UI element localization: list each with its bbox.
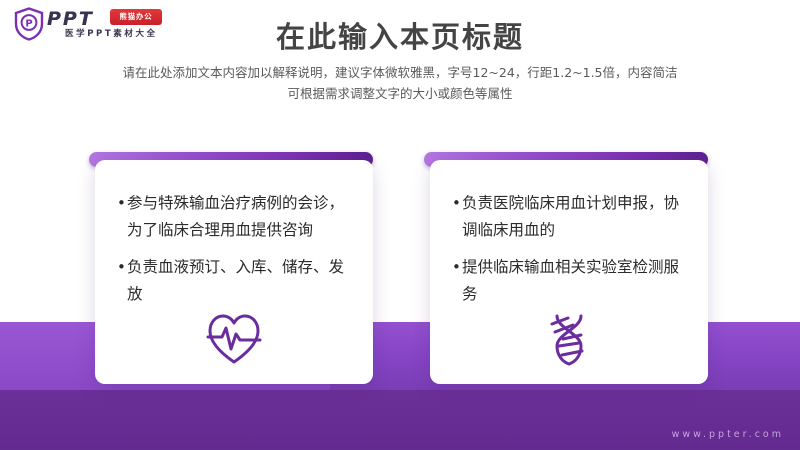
bullet-marker: • [452,254,462,308]
bullet-marker: • [452,190,462,244]
bullet-list-right: • 负责医院临床用血计划申报，协调临床用血的 • 提供临床输血相关实验室检测服务 [452,190,692,318]
bullet-text: 提供临床输血相关实验室检测服务 [462,254,692,308]
background-band-dark [0,390,800,450]
bullet-text: 参与特殊输血治疗病例的会诊，为了临床合理用血提供咨询 [127,190,357,244]
list-item: • 负责医院临床用血计划申报，协调临床用血的 [452,190,692,244]
content-card-right[interactable]: • 负责医院临床用血计划申报，协调临床用血的 • 提供临床输血相关实验室检测服务 [424,152,708,384]
page-title: 在此输入本页标题 [0,14,800,56]
card-body-right: • 负责医院临床用血计划申报，协调临床用血的 • 提供临床输血相关实验室检测服务 [430,160,708,384]
subtitle-line-2: 可根据需求调整文字的大小或颜色等属性 [0,83,800,104]
page-subtitle: 请在此处添加文本内容加以解释说明，建议字体微软雅黑，字号12~24，行距1.2~… [0,62,800,104]
heart-pulse-icon [204,310,264,368]
dna-helix-icon [539,310,599,368]
slide-canvas: P PPT 熊猫办公 医学PPT素材大全 在此输入本页标题 请在此处添加文本内容… [0,0,800,450]
bullet-marker: • [117,254,127,308]
card-body-left: • 参与特殊输血治疗病例的会诊，为了临床合理用血提供咨询 • 负责血液预订、入库… [95,160,373,384]
content-card-left[interactable]: • 参与特殊输血治疗病例的会诊，为了临床合理用血提供咨询 • 负责血液预订、入库… [89,152,373,384]
footer-url: www.ppter.com [672,429,784,440]
list-item: • 参与特殊输血治疗病例的会诊，为了临床合理用血提供咨询 [117,190,357,244]
subtitle-line-1: 请在此处添加文本内容加以解释说明，建议字体微软雅黑，字号12~24，行距1.2~… [0,62,800,83]
list-item: • 负责血液预订、入库、储存、发放 [117,254,357,308]
bullet-text: 负责血液预订、入库、储存、发放 [127,254,357,308]
bullet-marker: • [117,190,127,244]
bullet-list-left: • 参与特殊输血治疗病例的会诊，为了临床合理用血提供咨询 • 负责血液预订、入库… [117,190,357,318]
list-item: • 提供临床输血相关实验室检测服务 [452,254,692,308]
bullet-text: 负责医院临床用血计划申报，协调临床用血的 [462,190,692,244]
